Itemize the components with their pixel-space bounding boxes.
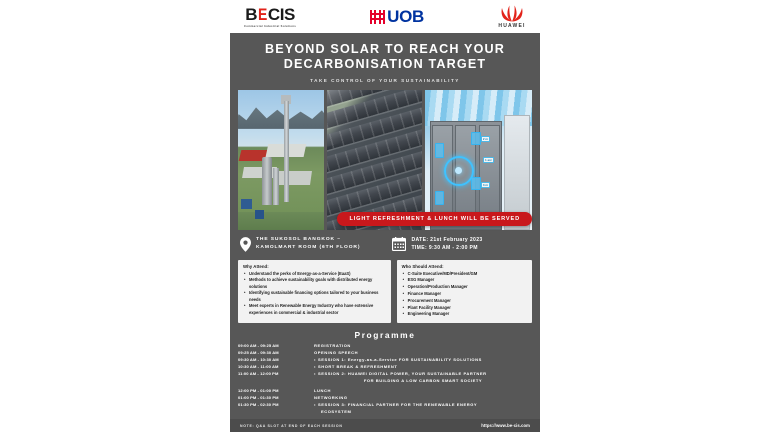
programme-time: 10:30 AM - 11:00 AM (238, 364, 314, 371)
headline-line-1: BEYOND SOLAR TO REACH YOUR (265, 42, 505, 56)
who-should-attend-item: Operation/Production Manager (408, 284, 527, 290)
photo-industrial-plant (238, 90, 324, 230)
programme-desc-text: SESSION 3: FINANCIAL PARTNER FOR THE REN… (318, 402, 477, 407)
programme-row: 11:00 AM - 12:00 PM •SESSION 2: HUAWEI D… (238, 371, 532, 385)
programme-desc-cont: FOR BUILDING A LOW CARBON SMART SOCIETY (314, 378, 532, 385)
headline-block: BEYOND SOLAR TO REACH YOUR DECARBONISATI… (230, 33, 540, 90)
why-attend-heading: Why Attend: (243, 264, 386, 269)
why-attend-list: Understand the perks of Energy-as-a-Serv… (243, 271, 386, 316)
programme-desc-cont: ECOSYSTEM (314, 409, 532, 416)
programme-row: 12:00 PM - 01:00 PM LUNCH (238, 388, 532, 395)
becis-letter-e: E (258, 6, 267, 23)
venue-location-group: THE SUKOSOL BANGKOK – KAMOLMART ROOM (6T… (240, 236, 384, 252)
huawei-wordmark: HUAWEI (498, 23, 525, 29)
programme-row: 09:25 AM - 09:30 AM OPENING SPEECH (238, 350, 532, 357)
who-should-attend-item: ESG Manager (408, 277, 527, 283)
uob-logo: UOB (370, 8, 424, 25)
becis-letter-c: C (268, 6, 280, 23)
who-should-attend-heading: Who Should Attend: (402, 264, 527, 269)
list-bullet: • (314, 364, 316, 369)
programme-time: 01:30 PM - 02:30 PM (238, 402, 314, 416)
info-panels: Why Attend: Understand the perks of Ener… (230, 260, 540, 330)
venue-date: DATE: 21st February 2023 (411, 237, 482, 243)
photo-band: 2 m 3 m 1 arc LIGHT REFRESHMENT & LUNCH … (230, 90, 540, 230)
headline-subtitle: TAKE CONTROL OF YOUR SUSTAINABILITY (242, 78, 528, 83)
poster-footer: NOTE: Q&A SLOT AT END OF EACH SESSION ht… (230, 419, 540, 432)
who-should-attend-item: Procurement Manager (408, 298, 527, 304)
huawei-flower-icon (498, 5, 526, 22)
venue-bar: THE SUKOSOL BANGKOK – KAMOLMART ROOM (6T… (230, 230, 540, 260)
programme-desc: •SESSION 3: FINANCIAL PARTNER FOR THE RE… (314, 402, 532, 416)
programme-desc: •SESSION 1: Energy-as-a-Service FOR SUST… (314, 357, 532, 364)
programme-desc: OPENING SPEECH (314, 350, 532, 357)
programme-row: 09:30 AM - 10:30 AM •SESSION 1: Energy-a… (238, 357, 532, 364)
becis-letter-s: S (284, 6, 295, 23)
programme-desc: •SHORT BREAK & REFRESHMENT (314, 364, 532, 371)
who-should-attend-item: Finance Manager (408, 291, 527, 297)
list-bullet: • (314, 357, 316, 362)
programme-row: 01:30 PM - 02:30 PM •SESSION 3: FINANCIA… (238, 402, 532, 416)
footer-note: NOTE: Q&A SLOT AT END OF EACH SESSION (240, 424, 343, 428)
poster-page: BECIS Commercial Industrial Solutions UO… (0, 0, 768, 432)
programme-desc-text: SESSION 1: Energy-as-a-Service FOR SUSTA… (318, 357, 482, 362)
programme-time: 11:00 AM - 12:00 PM (238, 371, 314, 385)
photo-solar-array (327, 90, 422, 230)
list-bullet: • (314, 402, 316, 407)
programme-desc: REGISTRATION (314, 343, 532, 350)
why-attend-item: Meet experts in Renewable Energy Industr… (249, 303, 386, 315)
venue-time: TIME: 9:30 AM - 2:00 PM (411, 245, 477, 251)
programme-desc-text: SESSION 2: HUAWEI DIGITAL POWER, YOUR SU… (318, 371, 487, 376)
venue-datetime: DATE: 21st February 2023 TIME: 9:30 AM -… (411, 236, 482, 253)
why-attend-item: Understand the perks of Energy-as-a-Serv… (249, 271, 386, 277)
uob-lockup: UOB (370, 8, 424, 25)
sponsor-logo-strip: BECIS Commercial Industrial Solutions UO… (230, 0, 540, 33)
programme-desc: LUNCH (314, 388, 532, 395)
headline-text: BEYOND SOLAR TO REACH YOUR DECARBONISATI… (242, 42, 528, 73)
refreshment-banner: LIGHT REFRESHMENT & LUNCH WILL BE SERVED (337, 212, 532, 226)
who-should-attend-item: Engineering Manager (408, 311, 527, 317)
venue-address: THE SUKOSOL BANGKOK – KAMOLMART ROOM (6T… (256, 236, 360, 252)
who-should-attend-panel: Who Should Attend: C-Suite Executive/MD/… (397, 260, 532, 324)
photo-digital-power: 2 m 3 m 1 arc (425, 90, 532, 230)
programme-time: 01:00 PM - 01:30 PM (238, 395, 314, 402)
huawei-logo: HUAWEI (498, 5, 526, 29)
becis-tagline: Commercial Industrial Solutions (244, 25, 296, 28)
venue-datetime-group: DATE: 21st February 2023 TIME: 9:30 AM -… (392, 236, 530, 253)
list-bullet: • (314, 371, 316, 376)
becis-logo: BECIS Commercial Industrial Solutions (244, 6, 296, 28)
becis-wordmark: BECIS (245, 6, 294, 23)
programme-desc: •SESSION 2: HUAWEI DIGITAL POWER, YOUR S… (314, 371, 532, 385)
programme-title: Programme (238, 330, 532, 340)
programme-row: 09:00 AM - 09:25 AM REGISTRATION (238, 343, 532, 350)
programme-time: 09:30 AM - 10:30 AM (238, 357, 314, 364)
programme-time: 09:00 AM - 09:25 AM (238, 343, 314, 350)
why-attend-item: Methods to achieve sustainability goals … (249, 277, 386, 289)
programme-time: 09:25 AM - 09:30 AM (238, 350, 314, 357)
programme-row: 10:30 AM - 11:00 AM •SHORT BREAK & REFRE… (238, 364, 532, 371)
headline-line-2: DECARBONISATION TARGET (284, 57, 487, 71)
uob-wordmark: UOB (387, 8, 424, 25)
location-pin-icon (240, 237, 251, 252)
becis-letter-b: B (245, 6, 257, 23)
poster-card: BEYOND SOLAR TO REACH YOUR DECARBONISATI… (230, 33, 540, 432)
who-should-attend-item: C-Suite Executive/MD/President/GM (408, 271, 527, 277)
uob-grid-icon (370, 10, 385, 24)
why-attend-item: Identifying sustainable financing option… (249, 290, 386, 302)
programme-section: Programme 09:00 AM - 09:25 AM REGISTRATI… (230, 330, 540, 416)
calendar-icon (392, 237, 406, 251)
footer-url[interactable]: https://www.be-cis.com (481, 423, 530, 428)
programme-desc: NETWORKING (314, 395, 532, 402)
venue-line-2: KAMOLMART ROOM (6TH FLOOR) (256, 245, 360, 250)
who-should-attend-item: Plant Facility Manager (408, 305, 527, 311)
who-should-attend-list: C-Suite Executive/MD/President/GM ESG Ma… (402, 271, 527, 318)
programme-row: 01:00 PM - 01:30 PM NETWORKING (238, 395, 532, 402)
venue-line-1: THE SUKOSOL BANGKOK – (256, 237, 341, 242)
hud-ring-icon (444, 156, 474, 186)
why-attend-panel: Why Attend: Understand the perks of Ener… (238, 260, 391, 324)
programme-desc-text: SHORT BREAK & REFRESHMENT (318, 364, 397, 369)
programme-time: 12:00 PM - 01:00 PM (238, 388, 314, 395)
